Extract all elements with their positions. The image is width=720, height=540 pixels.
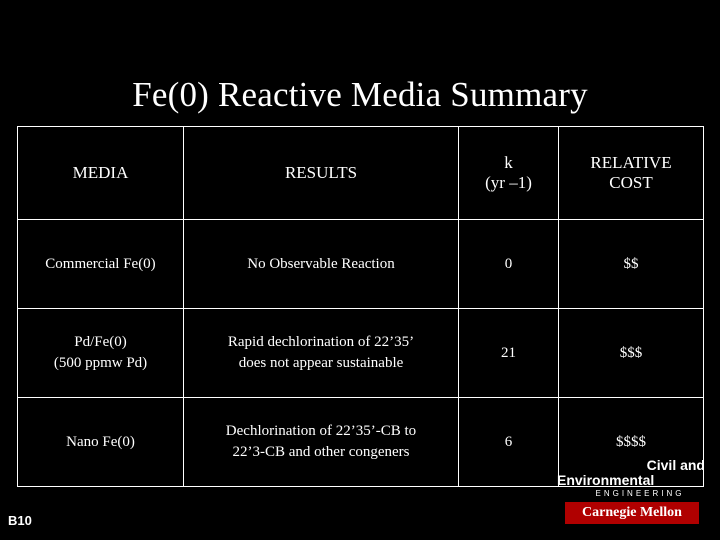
cell-results-line1: Dechlorination of 22’35’-CB to — [190, 421, 452, 442]
cell-media-line1: Nano Fe(0) — [24, 432, 177, 453]
cell-results-line1: Rapid dechlorination of 22’35’ — [190, 332, 452, 353]
cell-cost: $$$ — [559, 309, 704, 398]
logo-civil-text: Civil and — [557, 458, 705, 473]
column-header-results: RESULTS — [184, 127, 459, 220]
cell-results-line2: does not appear sustainable — [190, 353, 452, 374]
cmu-cee-logo: Civil and Environmental ENGINEERING Carn… — [557, 458, 705, 526]
column-header-k: k (yr –1) — [459, 127, 559, 220]
column-header-k-line1: k — [465, 153, 552, 173]
cell-results: No Observable Reaction — [184, 220, 459, 309]
cell-media-line1: Commercial Fe(0) — [24, 254, 177, 275]
cell-results: Dechlorination of 22’35’-CB to 22’3-CB a… — [184, 398, 459, 487]
cell-k: 21 — [459, 309, 559, 398]
reactive-media-table: MEDIA RESULTS k (yr –1) RELATIVE COST Co… — [17, 126, 704, 487]
cell-media: Commercial Fe(0) — [18, 220, 184, 309]
cell-media: Nano Fe(0) — [18, 398, 184, 487]
cell-results-line2: 22’3-CB and other congeners — [190, 442, 452, 463]
page-title: Fe(0) Reactive Media Summary — [0, 74, 720, 116]
cell-media: Pd/Fe(0) (500 ppmw Pd) — [18, 309, 184, 398]
carnegie-mellon-wordmark: Carnegie Mellon — [565, 502, 699, 524]
logo-engineering-text: ENGINEERING — [575, 489, 705, 498]
table-row: Pd/Fe(0) (500 ppmw Pd) Rapid dechlorinat… — [18, 309, 704, 398]
column-header-cost-line2: COST — [565, 173, 697, 193]
table-header-row: MEDIA RESULTS k (yr –1) RELATIVE COST — [18, 127, 704, 220]
cell-k: 0 — [459, 220, 559, 309]
column-header-k-line2: (yr –1) — [465, 173, 552, 193]
slide-number: B10 — [8, 513, 32, 528]
table-row: Commercial Fe(0) No Observable Reaction … — [18, 220, 704, 309]
cell-cost: $$ — [559, 220, 704, 309]
cell-results-line1: No Observable Reaction — [190, 254, 452, 275]
cell-media-line1: Pd/Fe(0) — [24, 332, 177, 353]
column-header-cost: RELATIVE COST — [559, 127, 704, 220]
cell-results: Rapid dechlorination of 22’35’ does not … — [184, 309, 459, 398]
logo-environmental-text: Environmental — [557, 473, 687, 488]
cell-k: 6 — [459, 398, 559, 487]
cell-media-line2: (500 ppmw Pd) — [24, 353, 177, 374]
column-header-cost-line1: RELATIVE — [565, 153, 697, 173]
column-header-media: MEDIA — [18, 127, 184, 220]
